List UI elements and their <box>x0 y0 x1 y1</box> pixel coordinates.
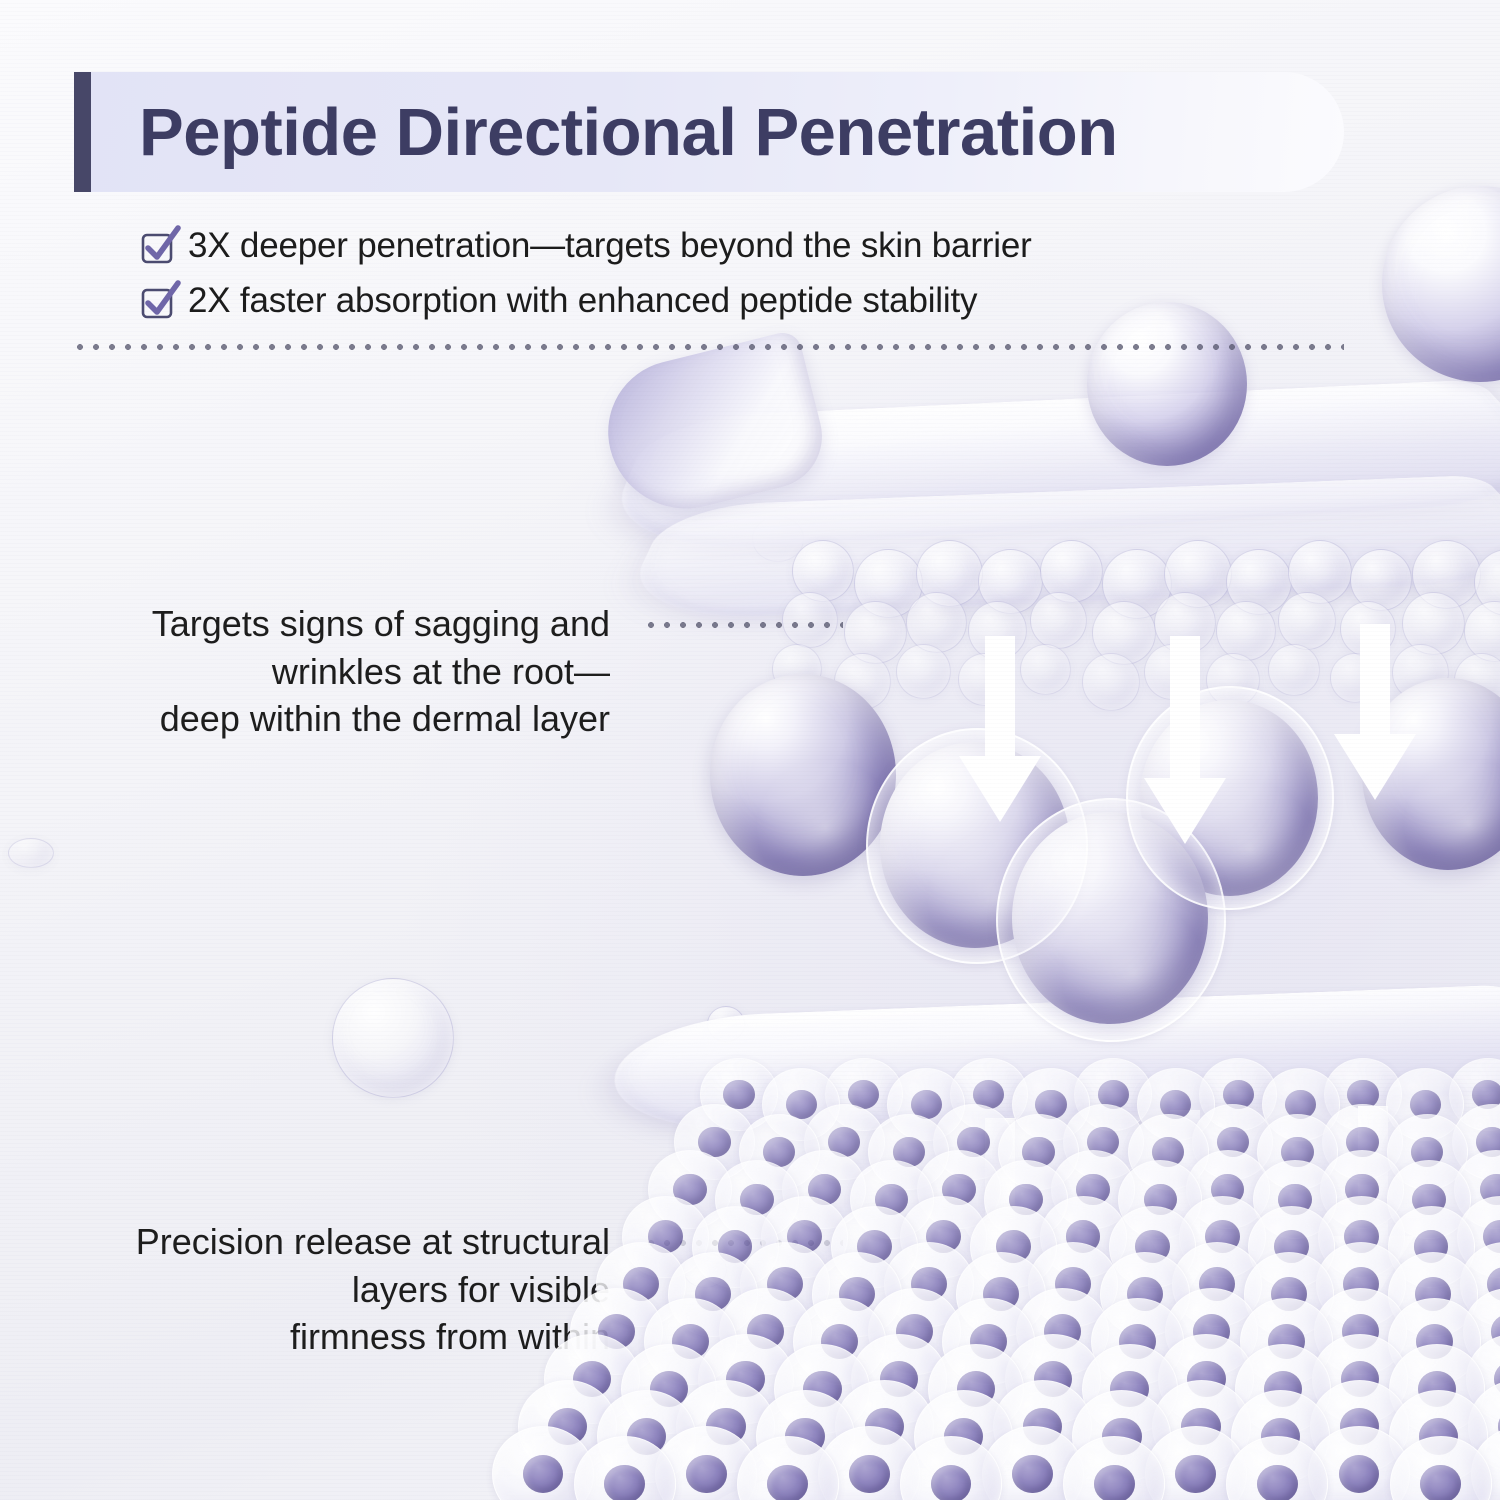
dermal-cell <box>1388 1252 1478 1337</box>
cell-nucleus <box>1346 1127 1378 1158</box>
cell-nucleus <box>944 1418 984 1456</box>
cell-nucleus <box>1487 1267 1500 1301</box>
cell-nucleus <box>726 1361 764 1397</box>
dermal-cell <box>1468 1380 1500 1473</box>
dermal-cell <box>1452 1104 1500 1180</box>
dermal-cell <box>831 1206 918 1288</box>
callout-line: layers for visible <box>85 1266 610 1314</box>
dermal-cell <box>756 1390 855 1483</box>
dermal-cell <box>1091 1298 1184 1385</box>
top-gel-sheet <box>596 380 1500 556</box>
dermal-cell <box>1179 1196 1266 1278</box>
dermal-cell <box>984 1160 1068 1239</box>
dermal-cell <box>1460 1242 1500 1327</box>
dermal-cell <box>950 1058 1028 1131</box>
cell-nucleus <box>1181 1408 1221 1446</box>
dermal-cell <box>1118 1160 1202 1239</box>
dermal-cell <box>1466 1334 1500 1424</box>
cell-nucleus <box>1281 1137 1313 1168</box>
cell-nucleus <box>740 1184 774 1216</box>
micro-bubble <box>1102 549 1172 619</box>
dermal-cell <box>982 1426 1084 1500</box>
dermal-cell <box>1308 1426 1410 1500</box>
dermal-cell <box>1005 1334 1101 1424</box>
micro-bubble <box>1288 540 1352 604</box>
cell-nucleus <box>1344 1220 1379 1253</box>
cell-nucleus <box>848 1080 879 1110</box>
peptide-pearl <box>1362 678 1500 870</box>
dermal-cell <box>719 1288 812 1375</box>
dermal-cell <box>1253 1160 1337 1239</box>
dermal-cell <box>655 1426 757 1500</box>
micro-bubble <box>1350 549 1412 611</box>
dermal-cell <box>737 1436 839 1500</box>
cell-nucleus <box>1044 1314 1081 1349</box>
dermal-cell <box>1463 1288 1500 1375</box>
callout-line: deep within the dermal layer <box>100 695 610 743</box>
cell-nucleus <box>1414 1230 1449 1263</box>
cell-nucleus <box>1418 1371 1456 1407</box>
dermal-cell <box>1186 1150 1270 1229</box>
cell-nucleus <box>698 1127 730 1158</box>
dermal-cell <box>917 1150 1001 1229</box>
cell-nucleus <box>857 1230 892 1263</box>
peptide-pearl <box>710 674 896 876</box>
cell-nucleus <box>523 1455 564 1494</box>
dermal-cell <box>1240 1298 1333 1385</box>
cell-nucleus <box>957 1127 989 1158</box>
dermal-cell <box>887 1068 965 1141</box>
cell-nucleus <box>623 1267 659 1301</box>
dermal-cell <box>1454 1150 1500 1229</box>
penetration-arrow <box>1328 1106 1418 1306</box>
dermal-cell <box>1063 1436 1165 1500</box>
cell-nucleus <box>763 1137 795 1168</box>
dermal-cell <box>1226 1436 1328 1500</box>
cell-nucleus <box>1193 1314 1230 1349</box>
dermal-cell <box>1388 1298 1481 1385</box>
cell-nucleus <box>1416 1324 1453 1359</box>
cell-nucleus <box>672 1324 709 1359</box>
dermal-cell <box>1137 1068 1215 1141</box>
micro-bubble <box>1082 653 1140 711</box>
cell-nucleus <box>1055 1267 1091 1301</box>
dermal-cell <box>1082 1344 1178 1434</box>
dermal-cell <box>1310 1380 1409 1473</box>
cell-nucleus <box>926 1220 961 1253</box>
cell-nucleus <box>695 1277 731 1311</box>
cell-nucleus <box>1023 1408 1063 1446</box>
dermal-cell <box>835 1380 934 1473</box>
micro-bubble <box>834 653 891 710</box>
callout-leader-line-lower <box>643 1240 843 1246</box>
peptide-pearl-shell <box>1126 686 1334 910</box>
dermal-cell <box>1316 1242 1406 1327</box>
cell-nucleus <box>970 1324 1007 1359</box>
cell-nucleus <box>1274 1230 1309 1263</box>
peptide-pearl-shell <box>996 798 1226 1042</box>
dermal-cell <box>1128 1114 1209 1190</box>
cell-nucleus <box>786 1090 817 1120</box>
cell-nucleus <box>1419 1418 1459 1456</box>
dermal-cell <box>1051 1150 1135 1229</box>
micro-bubble <box>1092 601 1156 665</box>
cell-nucleus <box>1199 1267 1235 1301</box>
micro-bubble <box>1474 549 1500 616</box>
cell-nucleus <box>911 1267 947 1301</box>
dermal-cell <box>674 1104 755 1180</box>
dermal-cell <box>970 1206 1057 1288</box>
cell-nucleus <box>1211 1174 1245 1206</box>
dermal-cell <box>1145 1426 1247 1500</box>
dermal-cell <box>621 1344 717 1434</box>
cell-nucleus <box>828 1127 860 1158</box>
dermal-cell <box>850 1160 934 1239</box>
dermal-cell <box>648 1150 732 1229</box>
cell-nucleus <box>996 1230 1031 1263</box>
cell-nucleus <box>808 1174 842 1206</box>
dermal-cell <box>1016 1288 1109 1375</box>
micro-bubble <box>1402 592 1465 655</box>
dermal-cell <box>1312 1334 1408 1424</box>
micro-bubble <box>968 601 1027 660</box>
peptide-pearl-shell <box>866 728 1088 964</box>
micro-bubble <box>1040 540 1103 603</box>
dermal-cell <box>825 1058 903 1131</box>
dermal-cell <box>698 1334 794 1424</box>
cell-nucleus <box>1076 1174 1110 1206</box>
callout-upper: Targets signs of sagging and wrinkles at… <box>100 600 610 743</box>
micro-bubble <box>1454 653 1500 708</box>
dermal-cell <box>715 1160 799 1239</box>
dermal-cell <box>868 1288 961 1375</box>
title-banner: Peptide Directional Penetration <box>74 72 1344 192</box>
dermal-cell <box>1314 1288 1407 1375</box>
cell-nucleus <box>1066 1220 1101 1253</box>
dermal-cell <box>793 1298 886 1385</box>
dermal-cell <box>914 1390 1013 1483</box>
cell-nucleus <box>1341 1361 1379 1397</box>
dermal-cell <box>1387 1160 1471 1239</box>
dermal-cell <box>1100 1252 1190 1337</box>
cell-nucleus <box>1264 1371 1302 1407</box>
cell-nucleus <box>785 1418 825 1456</box>
cell-nucleus <box>1009 1184 1043 1216</box>
checkbox-checked-icon <box>140 284 174 318</box>
cell-nucleus <box>648 1220 683 1253</box>
dermal-cell <box>1152 1380 1251 1473</box>
cell-nucleus <box>548 1408 588 1446</box>
cell-nucleus <box>1343 1267 1379 1301</box>
page-title: Peptide Directional Penetration <box>139 94 1118 171</box>
dermal-cell <box>1012 1068 1090 1141</box>
dermal-cell <box>739 1114 820 1190</box>
cell-nucleus <box>1175 1455 1216 1494</box>
cell-nucleus <box>1217 1127 1249 1158</box>
cell-nucleus <box>1012 1455 1053 1494</box>
cell-nucleus <box>1412 1184 1446 1216</box>
cell-nucleus <box>673 1174 707 1206</box>
dermal-cell <box>574 1436 676 1500</box>
cell-nucleus <box>1160 1090 1191 1120</box>
cell-nucleus <box>604 1465 645 1500</box>
dermal-cell <box>1320 1150 1404 1229</box>
cell-nucleus <box>1410 1090 1441 1120</box>
feature-bullet-list: 3X deeper penetration—targets beyond the… <box>140 222 1032 332</box>
cell-nucleus <box>1034 1361 1072 1397</box>
cell-nucleus <box>1152 1137 1184 1168</box>
micro-bubble <box>844 601 907 664</box>
cell-nucleus <box>1480 1174 1500 1206</box>
dermal-cell <box>518 1380 617 1473</box>
cell-nucleus <box>1339 1455 1380 1494</box>
dermal-cell <box>1040 1196 1127 1278</box>
cell-nucleus <box>1127 1277 1163 1311</box>
cell-nucleus <box>723 1080 754 1110</box>
dermal-cell <box>1318 1196 1405 1278</box>
dermal-cell <box>1244 1252 1334 1337</box>
micro-bubble <box>792 540 854 602</box>
dermal-cell <box>676 1380 775 1473</box>
cell-nucleus <box>1223 1080 1254 1110</box>
micro-bubble <box>896 644 951 699</box>
cell-nucleus <box>1415 1277 1451 1311</box>
dermal-cell <box>868 1114 949 1190</box>
callout-line: firmness from within <box>85 1313 610 1361</box>
callout-line: Targets signs of sagging and <box>100 600 610 648</box>
list-item: 2X faster absorption with enhanced pepti… <box>140 277 1032 325</box>
penetration-arrow <box>955 636 1045 826</box>
dermal-cell <box>1390 1436 1492 1500</box>
dermal-cell <box>668 1252 758 1337</box>
cell-nucleus <box>650 1371 688 1407</box>
dermal-cell <box>933 1104 1014 1180</box>
cell-nucleus <box>1494 1361 1500 1397</box>
cell-nucleus <box>573 1361 611 1397</box>
penetration-arrow <box>1330 624 1420 804</box>
cell-nucleus <box>893 1137 925 1168</box>
dermal-cell <box>1324 1058 1402 1131</box>
dermal-cell <box>884 1242 974 1327</box>
dermal-cell <box>1165 1288 1258 1375</box>
micro-bubble <box>854 549 923 618</box>
micro-bubble <box>1268 644 1320 696</box>
micro-bubble <box>1206 653 1260 707</box>
dermal-cell <box>1322 1104 1403 1180</box>
peptide-sphere <box>1382 186 1500 382</box>
micro-bubble <box>1412 540 1481 609</box>
dermal-cell <box>1386 1068 1464 1141</box>
cell-nucleus <box>1205 1220 1240 1253</box>
dermal-cell <box>597 1390 696 1483</box>
callout-line: wrinkles at the root— <box>100 648 610 696</box>
dermal-cell <box>1388 1206 1475 1288</box>
floating-bubble <box>332 978 454 1098</box>
bullet-label: 2X faster absorption with enhanced pepti… <box>188 281 977 321</box>
dermal-cell <box>1231 1390 1330 1483</box>
top-gel-sheet-underside <box>614 475 1500 623</box>
cell-nucleus <box>686 1455 727 1494</box>
dermal-cell <box>928 1344 1024 1434</box>
dermal-cell <box>1449 1058 1500 1131</box>
dermal-cell <box>1172 1242 1262 1327</box>
cell-nucleus <box>1098 1080 1129 1110</box>
dermal-cell <box>1235 1344 1331 1434</box>
floating-bubble <box>707 1006 745 1042</box>
cell-nucleus <box>1340 1408 1380 1446</box>
cell-nucleus <box>1268 1324 1305 1359</box>
peptide-pearl <box>880 742 1070 948</box>
dermal-cell <box>692 1206 779 1288</box>
dermal-cell <box>1389 1390 1488 1483</box>
floating-bubble <box>752 516 804 562</box>
cell-nucleus <box>1347 1080 1378 1110</box>
cell-nucleus <box>1278 1184 1312 1216</box>
bottom-base-sheet <box>678 1445 1500 1500</box>
micro-bubble <box>772 644 822 694</box>
callout-line: Precision release at structural <box>85 1218 610 1266</box>
micro-bubble <box>1464 601 1500 662</box>
dermal-cell <box>900 1436 1002 1500</box>
cell-nucleus <box>1491 1314 1500 1349</box>
cell-nucleus <box>1187 1361 1225 1397</box>
dermal-cell <box>956 1252 1046 1337</box>
cell-nucleus <box>957 1371 995 1407</box>
dermal-cell <box>818 1426 920 1500</box>
cell-nucleus <box>1035 1090 1066 1120</box>
cell-nucleus <box>839 1277 875 1311</box>
cell-nucleus <box>1144 1184 1178 1216</box>
dermal-cell <box>700 1058 778 1131</box>
floating-bubble <box>683 1252 727 1288</box>
micro-bubble <box>1020 644 1071 695</box>
bullet-label: 3X deeper penetration—targets beyond the… <box>188 226 1032 266</box>
cell-nucleus <box>1483 1220 1500 1253</box>
cell-nucleus <box>627 1418 667 1456</box>
cell-nucleus <box>1257 1465 1298 1500</box>
cell-nucleus <box>983 1277 1019 1311</box>
cell-nucleus <box>896 1314 933 1349</box>
dermal-cell <box>1262 1068 1340 1141</box>
dermal-cell <box>782 1150 866 1229</box>
cell-nucleus <box>865 1408 905 1446</box>
cell-nucleus <box>1420 1465 1461 1500</box>
dermal-cell <box>1257 1114 1338 1190</box>
cell-nucleus <box>1119 1324 1156 1359</box>
dotted-divider <box>72 344 1344 350</box>
micro-bubble <box>1164 540 1232 608</box>
callout-lower: Precision release at structural layers f… <box>85 1218 610 1361</box>
cell-nucleus <box>880 1361 918 1397</box>
product-infographic-poster: Peptide Directional Penetration 3X deepe… <box>0 0 1500 1500</box>
micro-bubble <box>1216 601 1276 661</box>
peptide-pearl <box>1140 700 1318 896</box>
dermal-cell <box>644 1298 737 1385</box>
cell-nucleus <box>1342 1314 1379 1349</box>
cell-nucleus <box>767 1267 803 1301</box>
dermal-cell <box>812 1252 902 1337</box>
dermal-cell <box>1387 1114 1468 1190</box>
dermal-cell <box>1389 1344 1485 1434</box>
cell-nucleus <box>911 1090 942 1120</box>
gel-sheet-curl <box>593 329 833 525</box>
dermal-cell <box>740 1242 830 1327</box>
dermal-cell <box>998 1114 1079 1190</box>
cell-nucleus <box>1094 1465 1135 1500</box>
peptide-pearl <box>1012 812 1208 1024</box>
checkbox-checked-icon <box>140 229 174 263</box>
cell-nucleus <box>1022 1137 1054 1168</box>
dermal-cell <box>804 1104 885 1180</box>
micro-bubble <box>1340 601 1396 657</box>
dermal-cell <box>1192 1104 1273 1180</box>
micro-bubble <box>1030 592 1087 649</box>
mid-gel-sheet <box>586 985 1500 1137</box>
micro-bubble <box>782 592 838 648</box>
micro-bubble <box>1144 644 1200 700</box>
dermal-cell <box>622 1196 709 1278</box>
dermal-cell <box>993 1380 1092 1473</box>
micro-bubble <box>1330 653 1380 703</box>
dermal-cell <box>1457 1196 1500 1278</box>
floating-bubble <box>8 838 54 868</box>
dermal-cell <box>1072 1390 1171 1483</box>
micro-bubble <box>1278 592 1336 650</box>
cell-nucleus <box>1087 1127 1119 1158</box>
callout-leader-line-upper <box>643 622 843 628</box>
micro-bubble <box>916 540 983 607</box>
list-item: 3X deeper penetration—targets beyond the… <box>140 222 1032 270</box>
micro-bubble <box>1392 644 1449 701</box>
cell-nucleus <box>1110 1371 1148 1407</box>
cell-nucleus <box>787 1220 822 1253</box>
dermal-cell <box>942 1298 1035 1385</box>
cell-nucleus <box>1411 1137 1443 1168</box>
dermal-cell <box>1471 1426 1500 1500</box>
cell-nucleus <box>1472 1080 1500 1110</box>
cell-nucleus <box>1261 1418 1301 1456</box>
cell-nucleus <box>942 1174 976 1206</box>
micro-bubble <box>1226 549 1292 615</box>
micro-bubble <box>906 592 967 653</box>
dermal-cell <box>1248 1206 1335 1288</box>
cell-nucleus <box>973 1080 1004 1110</box>
dermal-cell <box>1109 1206 1196 1288</box>
micro-bubble <box>958 653 1011 706</box>
cell-nucleus <box>931 1465 972 1500</box>
cell-nucleus <box>803 1371 841 1407</box>
cell-nucleus <box>821 1324 858 1359</box>
cell-nucleus <box>767 1465 808 1500</box>
cell-nucleus <box>1135 1230 1170 1263</box>
cell-nucleus <box>706 1408 746 1446</box>
dermal-cell <box>1074 1058 1152 1131</box>
dermal-cell <box>761 1196 848 1278</box>
cell-nucleus <box>747 1314 784 1349</box>
cell-nucleus <box>849 1455 890 1494</box>
cell-nucleus <box>875 1184 909 1216</box>
penetration-arrow <box>955 1118 1045 1288</box>
cell-nucleus <box>1345 1174 1379 1206</box>
title-accent-bar <box>74 72 91 192</box>
penetration-arrow <box>1140 636 1230 848</box>
dermal-cell <box>1063 1104 1144 1180</box>
dermal-cell <box>1199 1058 1277 1131</box>
penetration-arrow <box>1140 1110 1230 1300</box>
dermal-cell <box>762 1068 840 1141</box>
dermal-cell <box>492 1426 594 1500</box>
dermal-cell <box>1028 1242 1118 1327</box>
